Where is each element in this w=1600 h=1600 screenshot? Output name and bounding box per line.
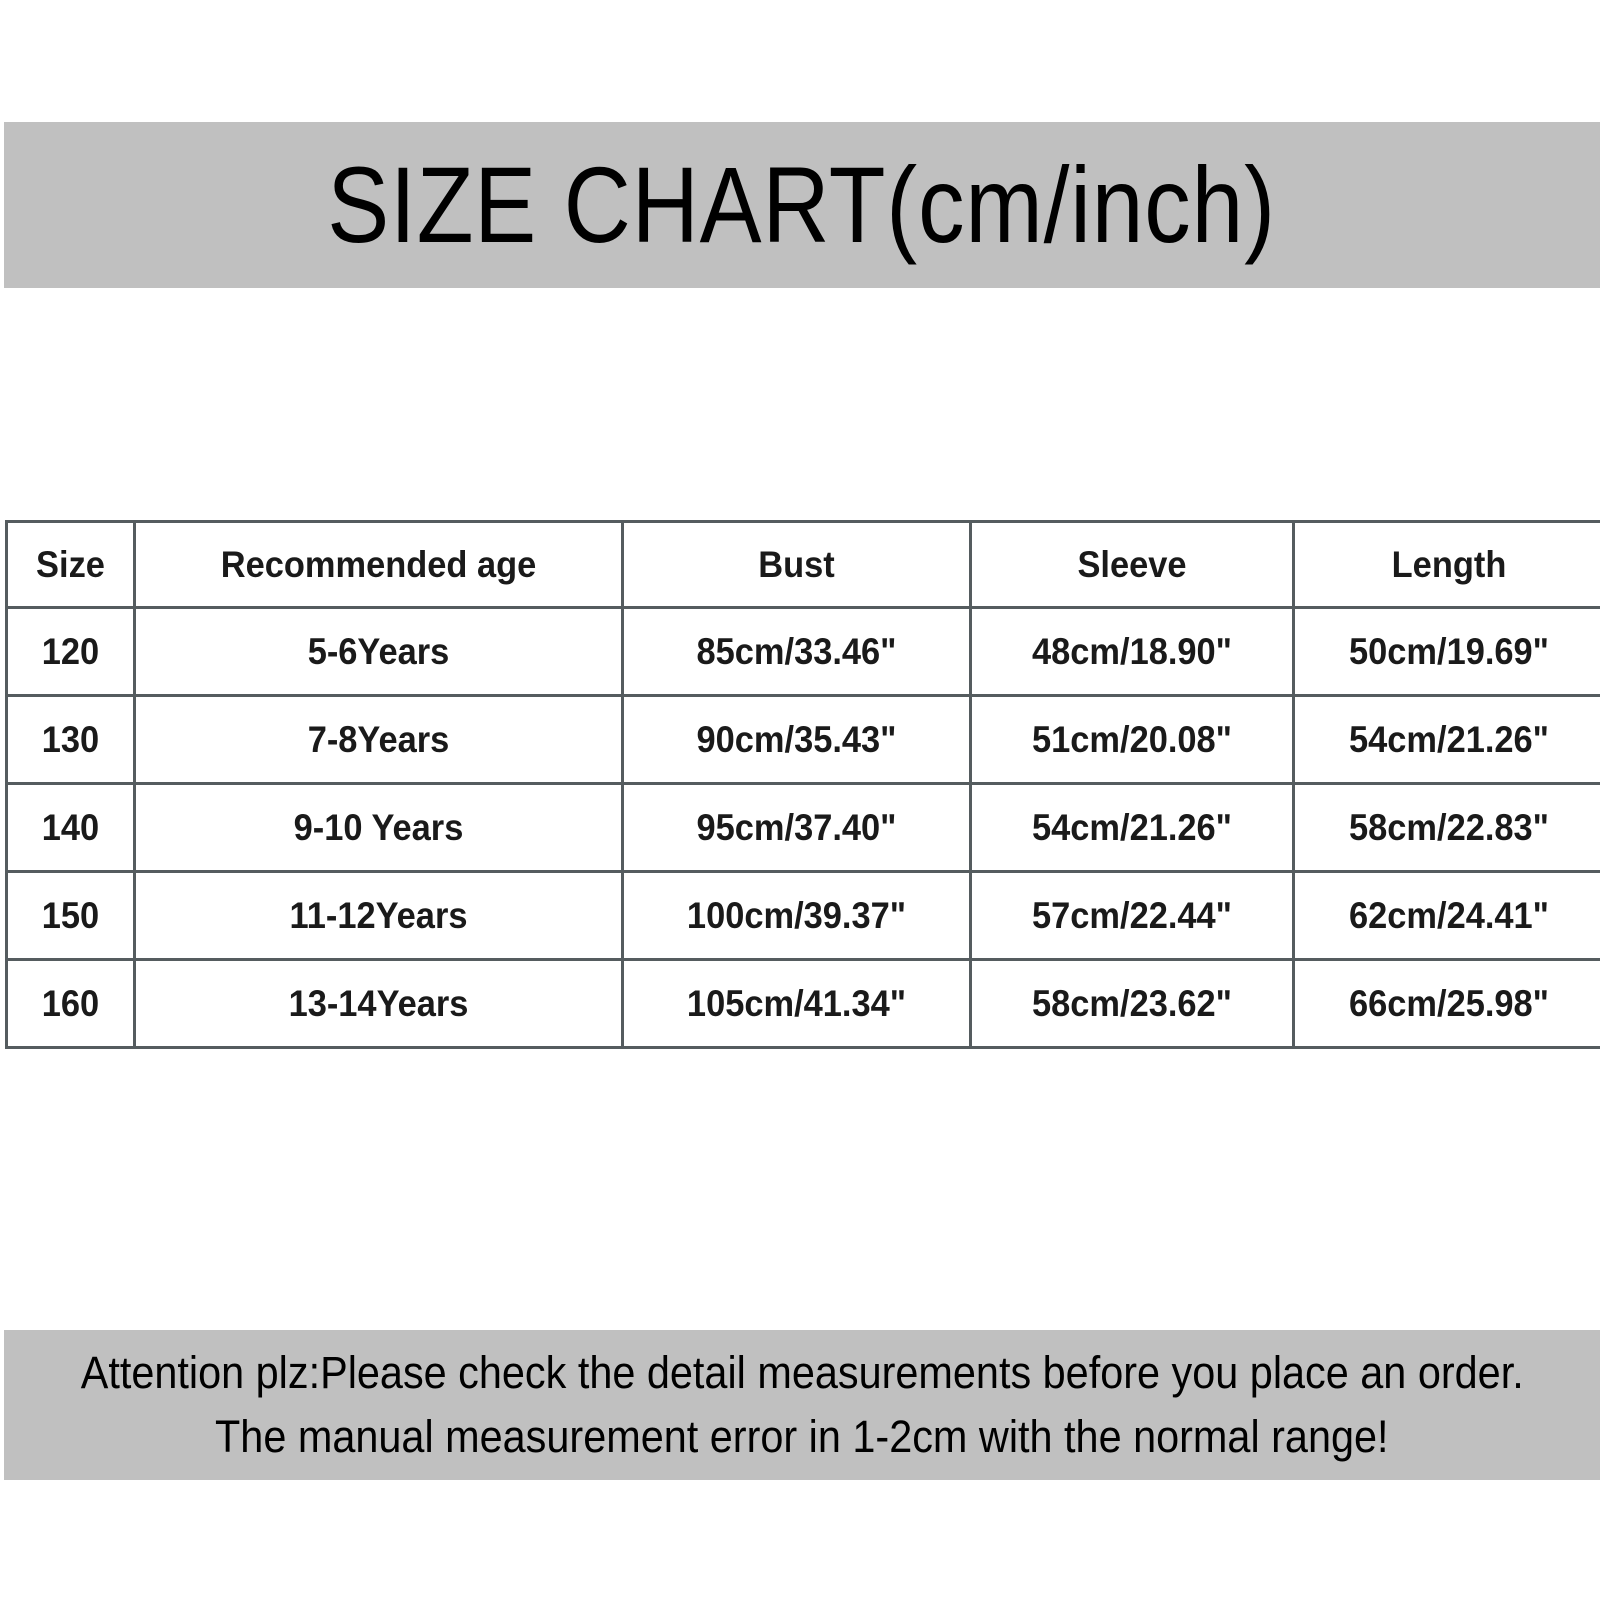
table-row: 120 5-6Years 85cm/33.46" 48cm/18.90" 50c… bbox=[7, 608, 1600, 696]
cell-age: 11-12Years bbox=[135, 872, 623, 960]
page-title: SIZE CHART(cm/inch) bbox=[328, 151, 1277, 259]
cell-size: 150 bbox=[7, 872, 135, 960]
column-header-recommended-age: Recommended age bbox=[135, 522, 623, 608]
cell-length: 50cm/19.69" bbox=[1294, 608, 1600, 696]
attention-line-2: The manual measurement error in 1-2cm wi… bbox=[215, 1405, 1389, 1469]
cell-sleeve: 48cm/18.90" bbox=[971, 608, 1294, 696]
cell-size: 160 bbox=[7, 960, 135, 1048]
cell-length: 66cm/25.98" bbox=[1294, 960, 1600, 1048]
table-body: 120 5-6Years 85cm/33.46" 48cm/18.90" 50c… bbox=[7, 608, 1600, 1048]
title-banner: SIZE CHART(cm/inch) bbox=[4, 122, 1600, 288]
size-chart-table-wrapper: Size Recommended age Bust Sleeve Length … bbox=[5, 520, 1588, 1049]
cell-length: 54cm/21.26" bbox=[1294, 696, 1600, 784]
cell-bust: 95cm/37.40" bbox=[623, 784, 971, 872]
column-header-bust: Bust bbox=[623, 522, 971, 608]
column-header-length: Length bbox=[1294, 522, 1600, 608]
table-row: 140 9-10 Years 95cm/37.40" 54cm/21.26" 5… bbox=[7, 784, 1600, 872]
cell-size: 140 bbox=[7, 784, 135, 872]
cell-bust: 85cm/33.46" bbox=[623, 608, 971, 696]
table-row: 150 11-12Years 100cm/39.37" 57cm/22.44" … bbox=[7, 872, 1600, 960]
attention-line-1: Attention plz:Please check the detail me… bbox=[81, 1341, 1524, 1405]
table-header: Size Recommended age Bust Sleeve Length bbox=[7, 522, 1600, 608]
table-row: 160 13-14Years 105cm/41.34" 58cm/23.62" … bbox=[7, 960, 1600, 1048]
table-row: 130 7-8Years 90cm/35.43" 51cm/20.08" 54c… bbox=[7, 696, 1600, 784]
cell-length: 58cm/22.83" bbox=[1294, 784, 1600, 872]
cell-sleeve: 51cm/20.08" bbox=[971, 696, 1294, 784]
cell-age: 13-14Years bbox=[135, 960, 623, 1048]
column-header-sleeve: Sleeve bbox=[971, 522, 1294, 608]
column-header-size: Size bbox=[7, 522, 135, 608]
size-chart-table: Size Recommended age Bust Sleeve Length … bbox=[5, 520, 1600, 1049]
cell-length: 62cm/24.41" bbox=[1294, 872, 1600, 960]
attention-banner: Attention plz:Please check the detail me… bbox=[4, 1330, 1600, 1480]
cell-size: 120 bbox=[7, 608, 135, 696]
cell-age: 9-10 Years bbox=[135, 784, 623, 872]
cell-size: 130 bbox=[7, 696, 135, 784]
cell-age: 7-8Years bbox=[135, 696, 623, 784]
cell-bust: 90cm/35.43" bbox=[623, 696, 971, 784]
cell-age: 5-6Years bbox=[135, 608, 623, 696]
table-header-row: Size Recommended age Bust Sleeve Length bbox=[7, 522, 1600, 608]
cell-sleeve: 58cm/23.62" bbox=[971, 960, 1294, 1048]
cell-sleeve: 54cm/21.26" bbox=[971, 784, 1294, 872]
cell-bust: 100cm/39.37" bbox=[623, 872, 971, 960]
cell-sleeve: 57cm/22.44" bbox=[971, 872, 1294, 960]
cell-bust: 105cm/41.34" bbox=[623, 960, 971, 1048]
